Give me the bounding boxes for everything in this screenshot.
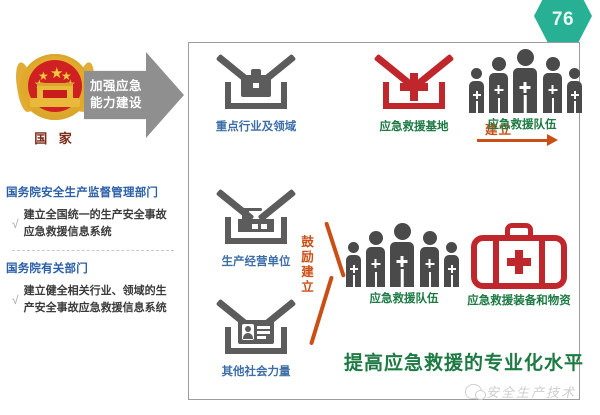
encourage-char-2: 励 — [300, 250, 315, 265]
encourage-char-3: 建 — [300, 265, 315, 280]
arrow-text-line2: 能力建设 — [90, 95, 142, 112]
node-production-unit: 生产经营单位 — [201, 188, 311, 269]
list-item-line1: 建立健全相关行业、领域的生 — [24, 283, 167, 300]
house-factory-icon — [219, 188, 293, 250]
panel-headline: 提高应急救援的专业化水平 — [344, 348, 584, 375]
list-item-line1: 建立全国统一的生产安全事故 — [24, 207, 167, 224]
list-item-line2: 产安全事故应急救援信息系统 — [24, 300, 167, 317]
section-heading-2: 国务院有关部门 — [6, 260, 178, 276]
encourage-chevron-icon — [318, 222, 348, 352]
list-item-line2: 应急救援信息系统 — [24, 224, 167, 241]
node-caption: 其他社会力量 — [201, 363, 311, 379]
page-number: 76 — [552, 1, 574, 31]
hexagon-shape: 76 — [534, 0, 592, 44]
left-requirements-list: 国务院安全生产监督管理部门 √ 建立全国统一的生产安全事故 应急救援信息系统 国… — [6, 184, 178, 317]
node-caption: 应急救援队伍 — [467, 116, 577, 132]
list-item: √ 建立健全相关行业、领域的生 产安全事故应急救援信息系统 — [12, 283, 178, 317]
node-caption: 应急救援队伍 — [344, 290, 464, 306]
build-arrow-icon — [477, 139, 549, 142]
list-item: √ 建立全国统一的生产安全事故 应急救援信息系统 — [12, 207, 178, 241]
house-idcard-icon — [219, 298, 293, 360]
watermark-text: 安全生产技术 — [486, 382, 576, 401]
arrow-text-line1: 加强应急 — [90, 78, 142, 95]
first-aid-kit-icon — [471, 223, 567, 289]
page-number-badge: 76 — [534, 0, 592, 44]
node-rescue-team-bottom: 应急救援队伍 — [344, 225, 464, 306]
encourage-char-1: 鼓 — [300, 235, 315, 250]
wechat-icon — [465, 384, 482, 399]
connector-label-encourage: 鼓 励 建 立 — [300, 235, 315, 295]
divider — [12, 250, 174, 251]
node-social-forces: 其他社会力量 — [201, 298, 311, 379]
node-caption: 应急救援装备和物资 — [461, 292, 577, 308]
node-caption: 生产经营单位 — [201, 253, 311, 269]
people-group-icon — [467, 51, 587, 113]
check-icon: √ — [12, 293, 19, 307]
emblem-label: 国 家 — [16, 128, 94, 147]
node-key-industries: 重点行业及领域 — [201, 53, 311, 134]
china-national-emblem-icon: ★ ★ ★ ★ ★ — [16, 52, 94, 126]
list-item-text: 建立健全相关行业、领域的生 产安全事故应急救援信息系统 — [24, 283, 167, 317]
watermark: 安全生产技术 — [465, 382, 576, 401]
house-briefcase-icon — [219, 53, 293, 115]
diagram-panel: 重点行业及领域 建立 应急救援基地 — [188, 42, 580, 400]
house-redcross-icon — [377, 53, 451, 115]
node-caption: 应急救援基地 — [359, 118, 469, 134]
encourage-char-4: 立 — [300, 280, 315, 295]
section-heading-1: 国务院安全生产监督管理部门 — [6, 184, 178, 200]
check-icon: √ — [12, 217, 19, 231]
people-group-icon — [344, 225, 464, 287]
node-rescue-equipment: 应急救援装备和物资 — [461, 223, 577, 308]
strengthen-capability-arrow: 加强应急 能力建设 — [84, 52, 184, 138]
node-rescue-team-top: 应急救援队伍 — [467, 51, 577, 132]
slide-canvas: 76 ★ ★ ★ ★ ★ 国 家 加强应急 能力建设 国务院安全生产监督管理部门… — [0, 0, 600, 415]
national-emblem-block: ★ ★ ★ ★ ★ 国 家 — [16, 52, 94, 132]
node-caption: 重点行业及领域 — [201, 118, 311, 134]
node-rescue-base: 应急救援基地 — [359, 53, 469, 134]
list-item-text: 建立全国统一的生产安全事故 应急救援信息系统 — [24, 207, 167, 241]
